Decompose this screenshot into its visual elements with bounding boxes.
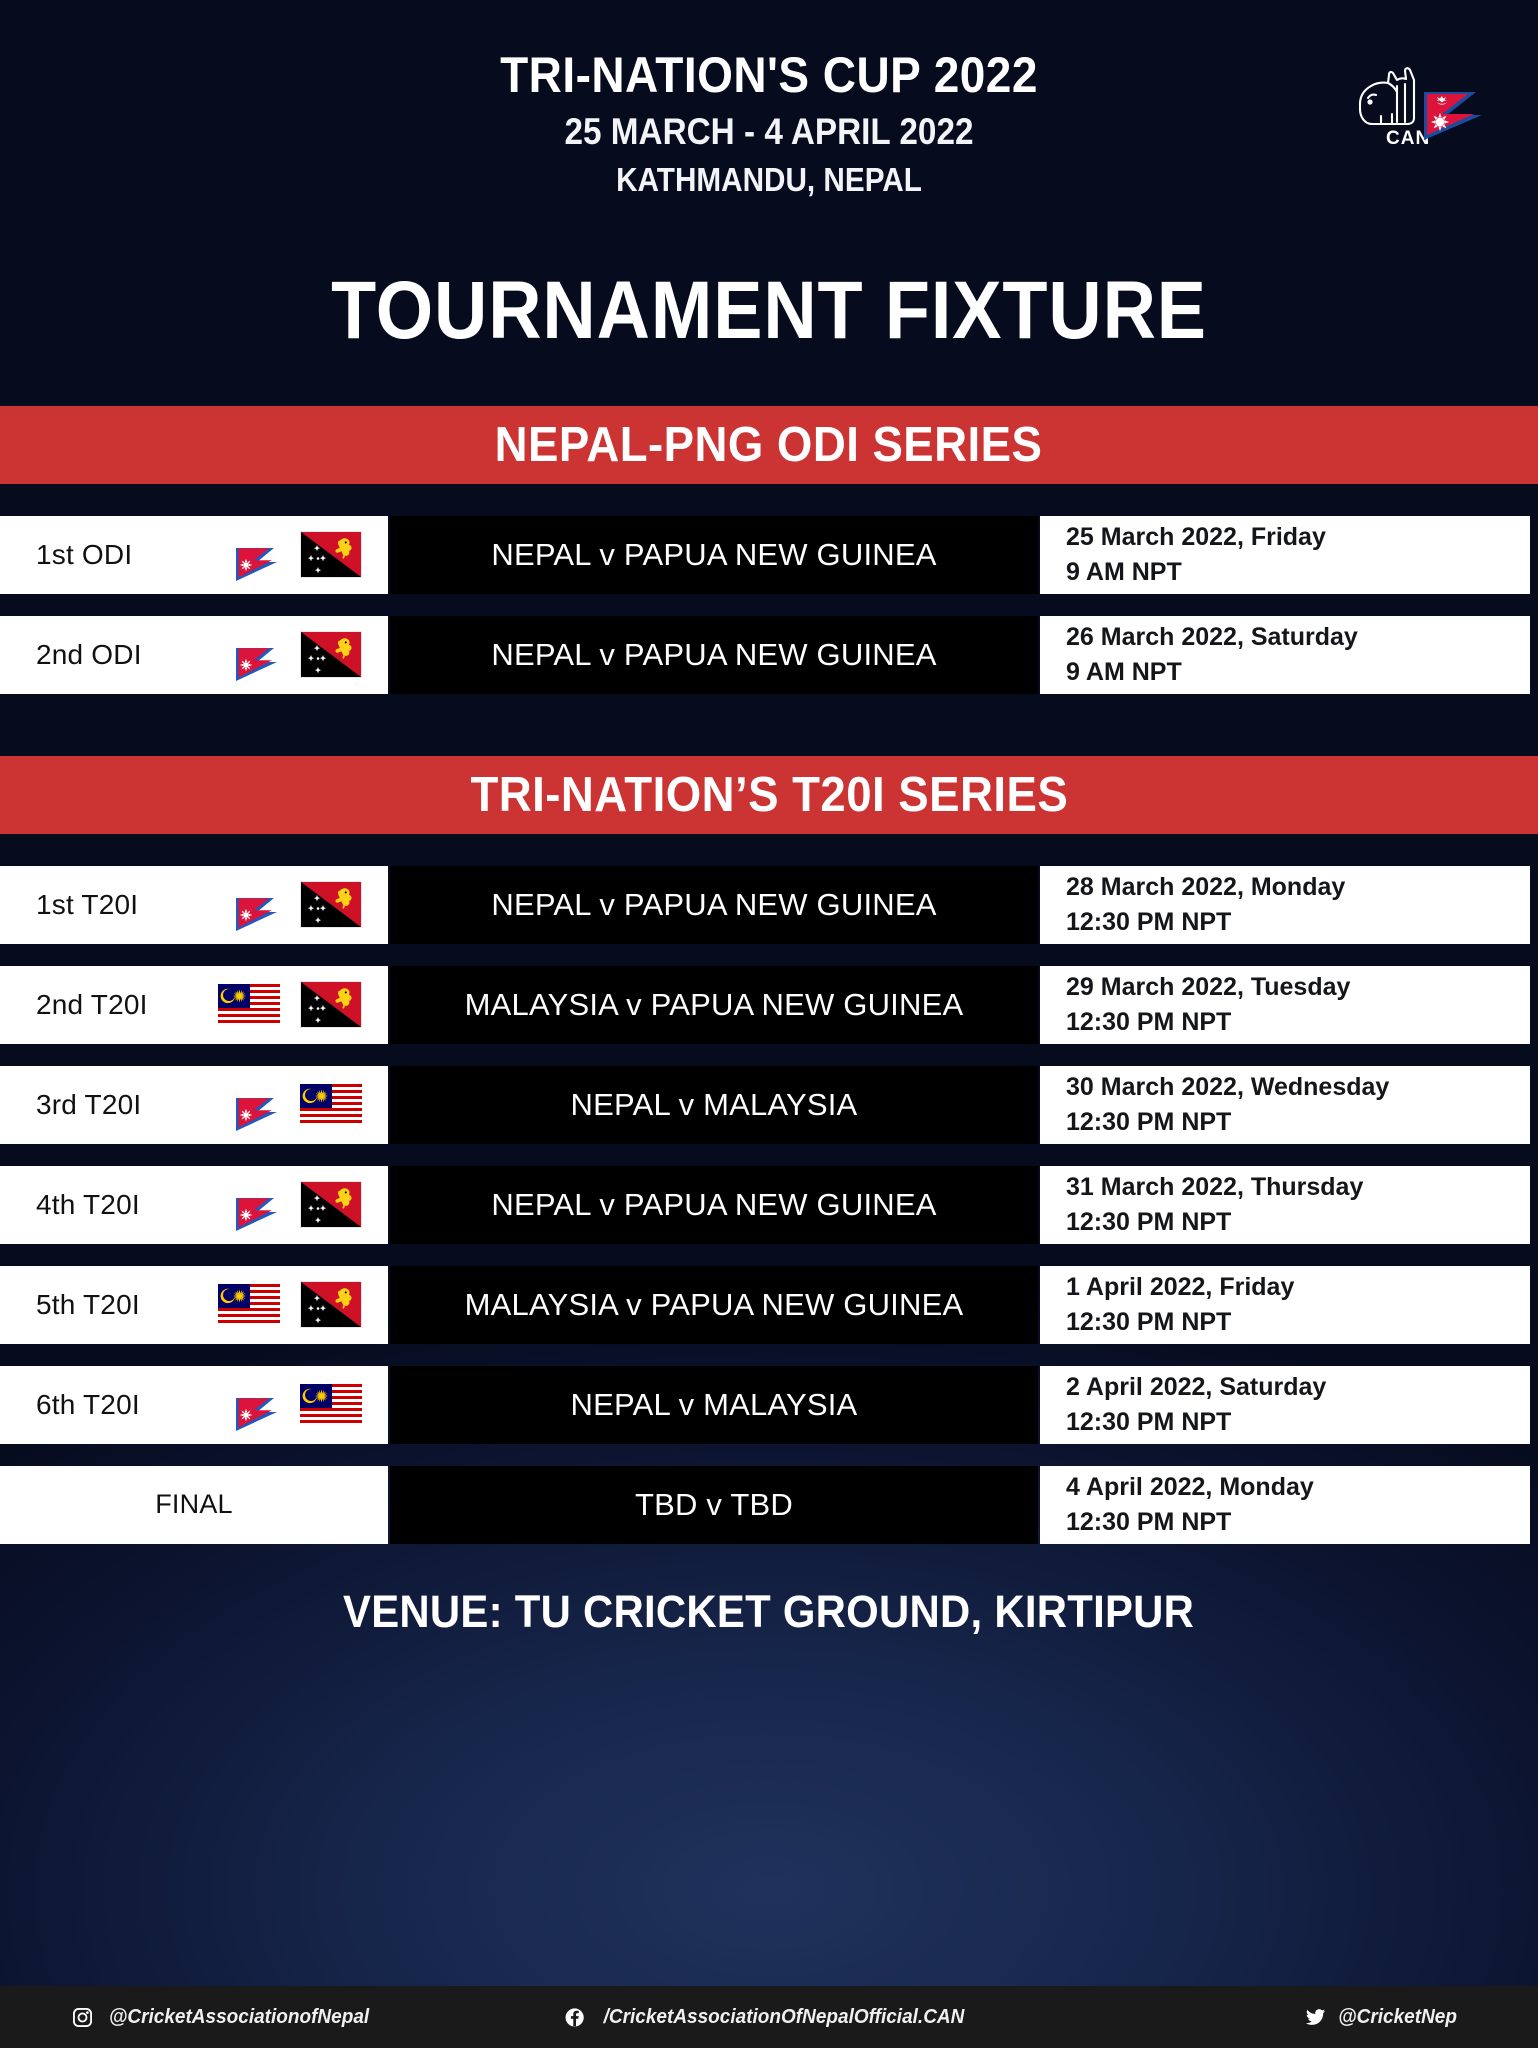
page-title: TOURNAMENT FIXTURE	[77, 264, 1461, 358]
tournament-city: KATHMANDU, NEPAL	[77, 159, 1461, 202]
venue-text: VENUE: TU CRICKET GROUND, KIRTIPUR	[343, 1586, 1194, 1638]
fixture-row: FINALTBD v TBD4 April 2022, Monday12:30 …	[0, 1466, 1538, 1544]
match-date: 4 April 2022, Monday	[1066, 1470, 1530, 1505]
facebook-icon	[564, 2007, 585, 2028]
match-teams-cell: TBD v TBD	[390, 1466, 1038, 1544]
match-time: 9 AM NPT	[1066, 555, 1530, 590]
match-teams-cell: MALAYSIA v PAPUA NEW GUINEA	[390, 1266, 1038, 1344]
fixture-row: 2nd T20IMALAYSIA v PAPUA NEW GUINEA29 Ma…	[0, 966, 1538, 1044]
team-flags	[234, 616, 362, 694]
fixture-sections: NEPAL-PNG ODI SERIES1st ODINEPAL v PAPUA…	[0, 406, 1538, 1544]
flag-nepal	[234, 877, 280, 933]
match-teams-cell: MALAYSIA v PAPUA NEW GUINEA	[390, 966, 1038, 1044]
match-datetime-cell: 2 April 2022, Saturday12:30 PM NPT	[1040, 1366, 1530, 1444]
match-label: 6th T20I	[36, 1389, 140, 1421]
match-time: 9 AM NPT	[1066, 655, 1530, 690]
match-teams: MALAYSIA v PAPUA NEW GUINEA	[465, 987, 964, 1023]
match-label: 4th T20I	[36, 1189, 140, 1221]
instagram-handle[interactable]: @CricketAssociationofNepal	[72, 2006, 376, 2029]
fixture-row: 2nd ODINEPAL v PAPUA NEW GUINEA26 March …	[0, 616, 1538, 694]
match-datetime-cell: 28 March 2022, Monday12:30 PM NPT	[1040, 866, 1530, 944]
match-time: 12:30 PM NPT	[1066, 1005, 1530, 1040]
series-banner-label: TRI-NATION’S T20I SERIES	[470, 767, 1068, 823]
match-teams: NEPAL v PAPUA NEW GUINEA	[491, 1187, 936, 1223]
fixture-poster: TRI-NATION'S CUP 2022 25 MARCH - 4 APRIL…	[0, 0, 1538, 2048]
team-flags	[234, 1166, 362, 1244]
match-teams: MALAYSIA v PAPUA NEW GUINEA	[465, 1287, 964, 1323]
team-flags	[234, 1066, 362, 1144]
svg-text:CAN: CAN	[1386, 128, 1430, 148]
team-flags	[218, 1266, 362, 1344]
flag-papua-new-guinea	[300, 631, 362, 678]
flag-nepal	[234, 1077, 280, 1133]
fixture-row: 3rd T20INEPAL v MALAYSIA30 March 2022, W…	[0, 1066, 1538, 1144]
series-banner-label: NEPAL-PNG ODI SERIES	[495, 417, 1043, 473]
match-teams: NEPAL v MALAYSIA	[571, 1387, 858, 1423]
match-time: 12:30 PM NPT	[1066, 1405, 1530, 1440]
match-teams: NEPAL v MALAYSIA	[571, 1087, 858, 1123]
match-label-cell: 1st ODI	[0, 516, 388, 594]
match-label-cell: 2nd T20I	[0, 966, 388, 1044]
match-label-cell: 2nd ODI	[0, 616, 388, 694]
match-datetime-cell: 4 April 2022, Monday12:30 PM NPT	[1040, 1466, 1530, 1544]
match-label-cell: 6th T20I	[0, 1366, 388, 1444]
flag-papua-new-guinea	[300, 981, 362, 1028]
match-teams: NEPAL v PAPUA NEW GUINEA	[491, 537, 936, 573]
tournament-title: TRI-NATION'S CUP 2022	[62, 48, 1477, 102]
match-teams-cell: NEPAL v MALAYSIA	[390, 1366, 1038, 1444]
match-time: 12:30 PM NPT	[1066, 905, 1530, 940]
twitter-icon	[1305, 2007, 1326, 2028]
match-label: 2nd ODI	[36, 639, 142, 671]
match-date: 31 March 2022, Thursday	[1066, 1170, 1530, 1205]
match-label: FINAL	[0, 1489, 388, 1520]
flag-papua-new-guinea	[300, 531, 362, 578]
match-teams-cell: NEPAL v PAPUA NEW GUINEA	[390, 516, 1038, 594]
match-label: 1st T20I	[36, 889, 138, 921]
facebook-text: /CricketAssociationOfNepalOfficial.CAN	[604, 2006, 965, 2029]
can-logo: CAN	[1348, 52, 1490, 148]
team-flags	[234, 1366, 362, 1444]
match-label-cell: 4th T20I	[0, 1166, 388, 1244]
match-label: 2nd T20I	[36, 989, 148, 1021]
match-datetime-cell: 26 March 2022, Saturday9 AM NPT	[1040, 616, 1530, 694]
match-label: 1st ODI	[36, 539, 132, 571]
series-banner: NEPAL-PNG ODI SERIES	[0, 406, 1538, 484]
fixture-row: 5th T20IMALAYSIA v PAPUA NEW GUINEA1 Apr…	[0, 1266, 1538, 1344]
flag-nepal	[234, 627, 280, 683]
fixture-row: 1st T20INEPAL v PAPUA NEW GUINEA28 March…	[0, 866, 1538, 944]
match-time: 12:30 PM NPT	[1066, 1505, 1530, 1540]
match-teams-cell: NEPAL v PAPUA NEW GUINEA	[390, 1166, 1038, 1244]
match-date: 29 March 2022, Tuesday	[1066, 970, 1530, 1005]
team-flags	[234, 866, 362, 944]
flag-malaysia	[218, 984, 280, 1026]
match-date: 2 April 2022, Saturday	[1066, 1370, 1530, 1405]
flag-papua-new-guinea	[300, 1281, 362, 1328]
fixture-row: 6th T20INEPAL v MALAYSIA2 April 2022, Sa…	[0, 1366, 1538, 1444]
flag-nepal	[234, 527, 280, 583]
match-datetime-cell: 25 March 2022, Friday9 AM NPT	[1040, 516, 1530, 594]
match-date: 25 March 2022, Friday	[1066, 520, 1530, 555]
match-teams-cell: NEPAL v PAPUA NEW GUINEA	[390, 866, 1038, 944]
flag-papua-new-guinea	[300, 881, 362, 928]
match-label-cell: FINAL	[0, 1466, 388, 1544]
flag-papua-new-guinea	[300, 1181, 362, 1228]
match-date: 30 March 2022, Wednesday	[1066, 1070, 1530, 1105]
series-banner: TRI-NATION’S T20I SERIES	[0, 756, 1538, 834]
match-datetime-cell: 1 April 2022, Friday12:30 PM NPT	[1040, 1266, 1530, 1344]
fixture-row: 4th T20INEPAL v PAPUA NEW GUINEA31 March…	[0, 1166, 1538, 1244]
tournament-dates: 25 MARCH - 4 APRIL 2022	[77, 108, 1461, 157]
match-time: 12:30 PM NPT	[1066, 1305, 1530, 1340]
fixture-row: 1st ODINEPAL v PAPUA NEW GUINEA25 March …	[0, 516, 1538, 594]
match-teams-cell: NEPAL v PAPUA NEW GUINEA	[390, 616, 1038, 694]
twitter-handle[interactable]: @CricketNep	[1305, 2006, 1460, 2029]
match-label-cell: 1st T20I	[0, 866, 388, 944]
match-date: 1 April 2022, Friday	[1066, 1270, 1530, 1305]
instagram-text: @CricketAssociationofNepal	[109, 2006, 369, 2029]
match-datetime-cell: 31 March 2022, Thursday12:30 PM NPT	[1040, 1166, 1530, 1244]
poster-header: TRI-NATION'S CUP 2022 25 MARCH - 4 APRIL…	[0, 0, 1538, 358]
instagram-icon	[72, 2007, 93, 2028]
match-time: 12:30 PM NPT	[1066, 1205, 1530, 1240]
match-datetime-cell: 29 March 2022, Tuesday12:30 PM NPT	[1040, 966, 1530, 1044]
flag-malaysia	[300, 1384, 362, 1426]
match-label-cell: 5th T20I	[0, 1266, 388, 1344]
match-label: 3rd T20I	[36, 1089, 141, 1121]
match-teams: NEPAL v PAPUA NEW GUINEA	[491, 887, 936, 923]
social-footer: @CricketAssociationofNepal /CricketAssoc…	[0, 1986, 1538, 2048]
can-logo-svg: CAN	[1348, 52, 1490, 148]
venue-bar: VENUE: TU CRICKET GROUND, KIRTIPUR	[0, 1572, 1538, 1652]
twitter-text: @CricketNep	[1338, 2006, 1457, 2029]
flag-nepal	[234, 1377, 280, 1433]
team-flags	[234, 516, 362, 594]
match-teams: NEPAL v PAPUA NEW GUINEA	[491, 637, 936, 673]
match-datetime-cell: 30 March 2022, Wednesday12:30 PM NPT	[1040, 1066, 1530, 1144]
match-date: 28 March 2022, Monday	[1066, 870, 1530, 905]
team-flags	[218, 966, 362, 1044]
flag-malaysia	[218, 1284, 280, 1326]
match-teams-cell: NEPAL v MALAYSIA	[390, 1066, 1038, 1144]
match-date: 26 March 2022, Saturday	[1066, 620, 1530, 655]
flag-malaysia	[300, 1084, 362, 1126]
flag-nepal	[234, 1177, 280, 1233]
match-label-cell: 3rd T20I	[0, 1066, 388, 1144]
match-label: 5th T20I	[36, 1289, 140, 1321]
match-time: 12:30 PM NPT	[1066, 1105, 1530, 1140]
facebook-handle[interactable]: /CricketAssociationOfNepalOfficial.CAN	[564, 2006, 974, 2029]
match-teams: TBD v TBD	[635, 1487, 793, 1523]
